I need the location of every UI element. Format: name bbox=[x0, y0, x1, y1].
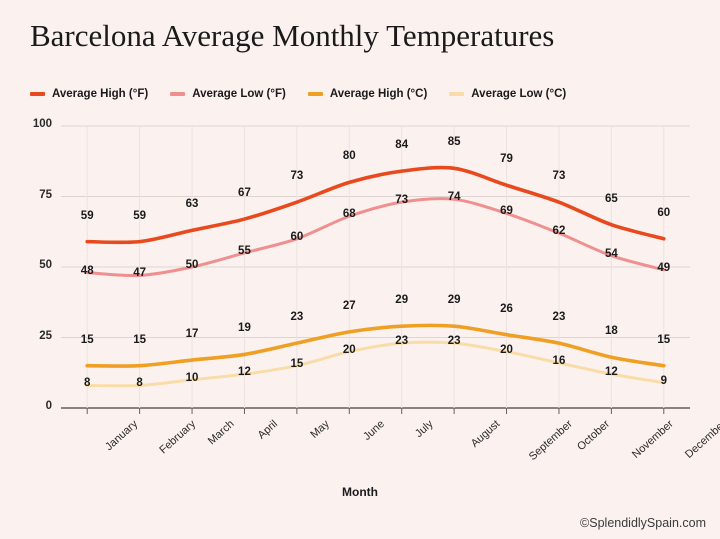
series-line bbox=[87, 325, 664, 366]
data-value-label: 84 bbox=[395, 139, 408, 151]
data-value-label: 48 bbox=[81, 265, 94, 277]
data-value-label: 59 bbox=[133, 210, 146, 222]
data-value-label: 67 bbox=[238, 187, 251, 199]
x-axis-tick-label: October bbox=[575, 418, 612, 453]
data-value-label: 60 bbox=[290, 231, 303, 243]
y-axis-tick-label: 100 bbox=[12, 118, 52, 130]
data-value-label: 69 bbox=[500, 205, 513, 217]
data-value-label: 23 bbox=[553, 311, 566, 323]
watermark: ©SplendidlySpain.com bbox=[580, 516, 706, 530]
data-value-label: 15 bbox=[290, 358, 303, 370]
series-line bbox=[87, 199, 664, 276]
x-axis-tick-label: January bbox=[103, 418, 140, 453]
data-value-label: 23 bbox=[290, 311, 303, 323]
x-axis-tick-label: September bbox=[526, 418, 574, 463]
legend-swatch-icon bbox=[30, 92, 45, 96]
x-axis-tick-label: December bbox=[683, 418, 720, 461]
legend-item[interactable]: Average High (°C) bbox=[308, 88, 427, 100]
x-axis-tick-label: February bbox=[157, 418, 198, 456]
data-value-label: 20 bbox=[500, 344, 513, 356]
data-value-label: 19 bbox=[238, 322, 251, 334]
legend-label: Average Low (°C) bbox=[471, 88, 566, 100]
data-value-label: 10 bbox=[186, 372, 199, 384]
data-value-label: 73 bbox=[395, 194, 408, 206]
data-value-label: 73 bbox=[290, 170, 303, 182]
series-line bbox=[87, 168, 664, 243]
x-axis-tick-label: July bbox=[413, 418, 436, 440]
data-value-label: 23 bbox=[448, 335, 461, 347]
data-value-label: 29 bbox=[395, 294, 408, 306]
data-value-label: 85 bbox=[448, 136, 461, 148]
x-axis-tick-label: August bbox=[469, 418, 502, 450]
data-value-label: 16 bbox=[553, 355, 566, 367]
data-value-label: 15 bbox=[81, 334, 94, 346]
legend-swatch-icon bbox=[170, 92, 185, 96]
data-value-label: 26 bbox=[500, 303, 513, 315]
data-value-label: 15 bbox=[657, 334, 670, 346]
data-value-label: 63 bbox=[186, 198, 199, 210]
legend-label: Average High (°C) bbox=[330, 88, 427, 100]
x-axis-tick-label: November bbox=[630, 418, 676, 461]
data-value-label: 62 bbox=[553, 225, 566, 237]
data-value-label: 68 bbox=[343, 208, 356, 220]
legend-item[interactable]: Average Low (°C) bbox=[449, 88, 566, 100]
data-value-label: 60 bbox=[657, 207, 670, 219]
data-value-label: 49 bbox=[657, 262, 670, 274]
legend-swatch-icon bbox=[308, 92, 323, 96]
data-value-label: 8 bbox=[84, 377, 90, 389]
data-value-label: 12 bbox=[238, 366, 251, 378]
x-axis-tick-label: May bbox=[308, 418, 331, 441]
data-value-label: 23 bbox=[395, 335, 408, 347]
x-axis-tick-label: March bbox=[206, 418, 237, 447]
x-axis-tick-label: June bbox=[361, 418, 387, 443]
legend-item[interactable]: Average Low (°F) bbox=[170, 88, 286, 100]
data-value-label: 29 bbox=[448, 294, 461, 306]
y-axis-tick-label: 75 bbox=[12, 189, 52, 201]
data-value-label: 27 bbox=[343, 300, 356, 312]
x-axis-tick-label: April bbox=[256, 418, 280, 442]
data-value-label: 18 bbox=[605, 325, 618, 337]
data-value-label: 54 bbox=[605, 248, 618, 260]
data-value-label: 17 bbox=[186, 328, 199, 340]
legend-label: Average Low (°F) bbox=[192, 88, 286, 100]
series-line bbox=[87, 342, 664, 386]
data-value-label: 59 bbox=[81, 210, 94, 222]
data-value-label: 73 bbox=[553, 170, 566, 182]
y-axis-tick-label: 50 bbox=[12, 259, 52, 271]
legend-item[interactable]: Average High (°F) bbox=[30, 88, 148, 100]
data-value-label: 65 bbox=[605, 193, 618, 205]
chart-container: Barcelona Average Monthly Temperatures A… bbox=[0, 0, 720, 539]
legend-label: Average High (°F) bbox=[52, 88, 148, 100]
data-value-label: 47 bbox=[133, 267, 146, 279]
y-axis-tick-label: 0 bbox=[12, 400, 52, 412]
data-value-label: 20 bbox=[343, 344, 356, 356]
data-value-label: 15 bbox=[133, 334, 146, 346]
y-axis-tick-label: 25 bbox=[12, 330, 52, 342]
plot-area bbox=[0, 0, 720, 539]
data-value-label: 79 bbox=[500, 153, 513, 165]
data-value-label: 9 bbox=[661, 375, 667, 387]
data-value-label: 50 bbox=[186, 259, 199, 271]
data-value-label: 12 bbox=[605, 366, 618, 378]
data-value-label: 55 bbox=[238, 245, 251, 257]
data-value-label: 74 bbox=[448, 191, 461, 203]
legend-swatch-icon bbox=[449, 92, 464, 96]
chart-title: Barcelona Average Monthly Temperatures bbox=[30, 18, 554, 54]
data-value-label: 8 bbox=[136, 377, 142, 389]
chart-legend: Average High (°F)Average Low (°F)Average… bbox=[30, 88, 588, 100]
data-value-label: 80 bbox=[343, 150, 356, 162]
x-axis-title: Month bbox=[0, 485, 720, 499]
